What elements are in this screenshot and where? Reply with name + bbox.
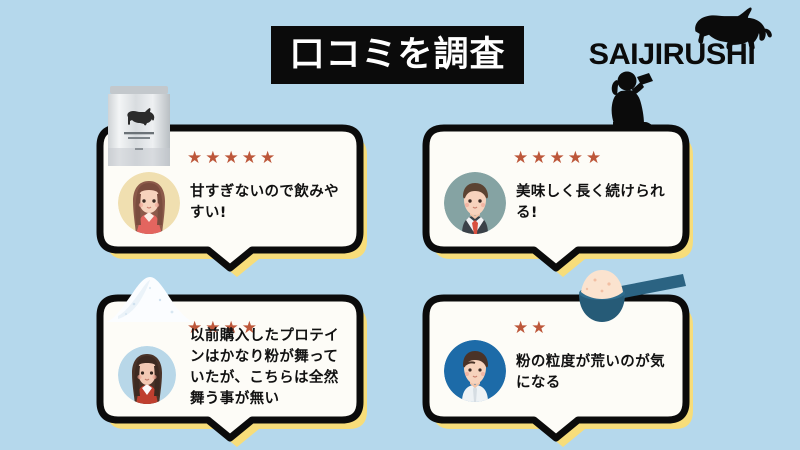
review-bubble-2: ★★★★★ 美味しく長く続けられる! bbox=[422, 124, 690, 272]
rating-stars: ★★★★★ bbox=[187, 150, 278, 167]
powder-pile-image bbox=[104, 264, 196, 326]
rating-stars: ★★★★★ bbox=[513, 150, 604, 167]
review-text: 美味しく長く続けられる! bbox=[516, 182, 666, 224]
avatar-male-white-shirt bbox=[444, 340, 506, 402]
slide-canvas: 口コミを調査 SAIJIRUSHI bbox=[0, 0, 800, 450]
avatar-male-suit bbox=[444, 172, 506, 234]
page-title-banner: 口コミを調査 bbox=[271, 26, 524, 84]
rating-stars: ★★ bbox=[513, 320, 549, 337]
measuring-scoop-image bbox=[565, 266, 687, 328]
page-title: 口コミを調査 bbox=[289, 38, 505, 73]
protein-pouch-image bbox=[100, 84, 178, 170]
avatar-female-dark-hair bbox=[118, 346, 176, 404]
brand-name: SAIJIRUSHI bbox=[560, 38, 784, 72]
brand-logo: SAIJIRUSHI bbox=[562, 6, 782, 78]
review-text: 粉の粒度が荒いのが気になる bbox=[516, 352, 668, 394]
avatar-female-long-hair bbox=[118, 172, 180, 234]
review-text: 甘すぎないので飲みやすい! bbox=[190, 182, 340, 224]
review-text: 以前購入したプロテインはかなり粉が舞っていたが、こちらは全然舞う事が無い bbox=[190, 326, 342, 410]
